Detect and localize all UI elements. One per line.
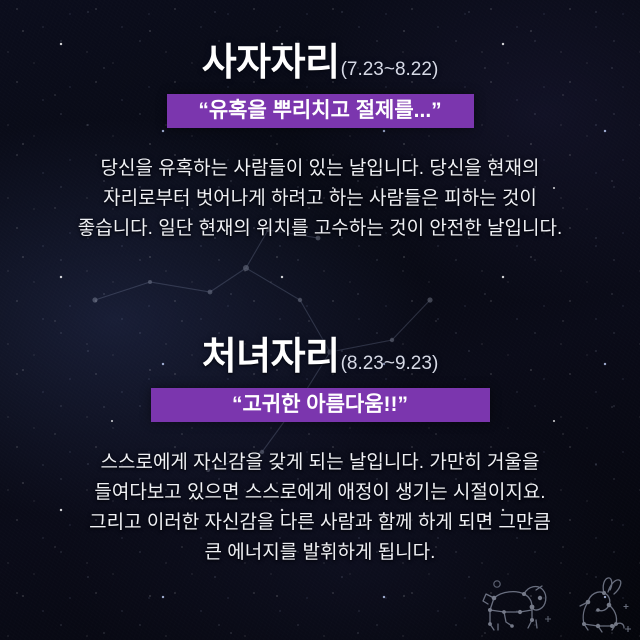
sign-name: 처녀자리 <box>202 336 340 378</box>
leo-constellation-icon <box>480 576 554 638</box>
horoscope-section-virgo: 처녀자리(8.23~9.23) “고귀한 아름다움!!” 스스로에게 자신감을 … <box>0 338 640 568</box>
corner-decoration <box>480 576 632 638</box>
sign-description: 스스로에게 자신감을 갖게 되는 날입니다. 가만히 거울을 들여다보고 있으면… <box>27 448 613 568</box>
sign-tagline-banner: “고귀한 아름다움!!” <box>151 388 490 422</box>
hare-constellation-icon <box>558 576 632 638</box>
horoscope-card: 사자자리(7.23~8.22) “유혹을 뿌리치고 절제를...” 당신을 유혹… <box>0 0 640 640</box>
sign-date-range: (7.23~8.22) <box>341 59 439 80</box>
sign-heading: 사자자리(7.23~8.22) <box>0 44 640 82</box>
sign-name: 사자자리 <box>202 42 340 84</box>
horoscope-section-leo: 사자자리(7.23~8.22) “유혹을 뿌리치고 절제를...” 당신을 유혹… <box>0 44 640 244</box>
sign-heading: 처녀자리(8.23~9.23) <box>0 338 640 376</box>
sign-tagline-banner: “유혹을 뿌리치고 절제를...” <box>167 94 474 128</box>
sign-date-range: (8.23~9.23) <box>341 353 439 374</box>
sign-description: 당신을 유혹하는 사람들이 있는 날입니다. 당신을 현재의 자리로부터 벗어나… <box>37 154 603 244</box>
